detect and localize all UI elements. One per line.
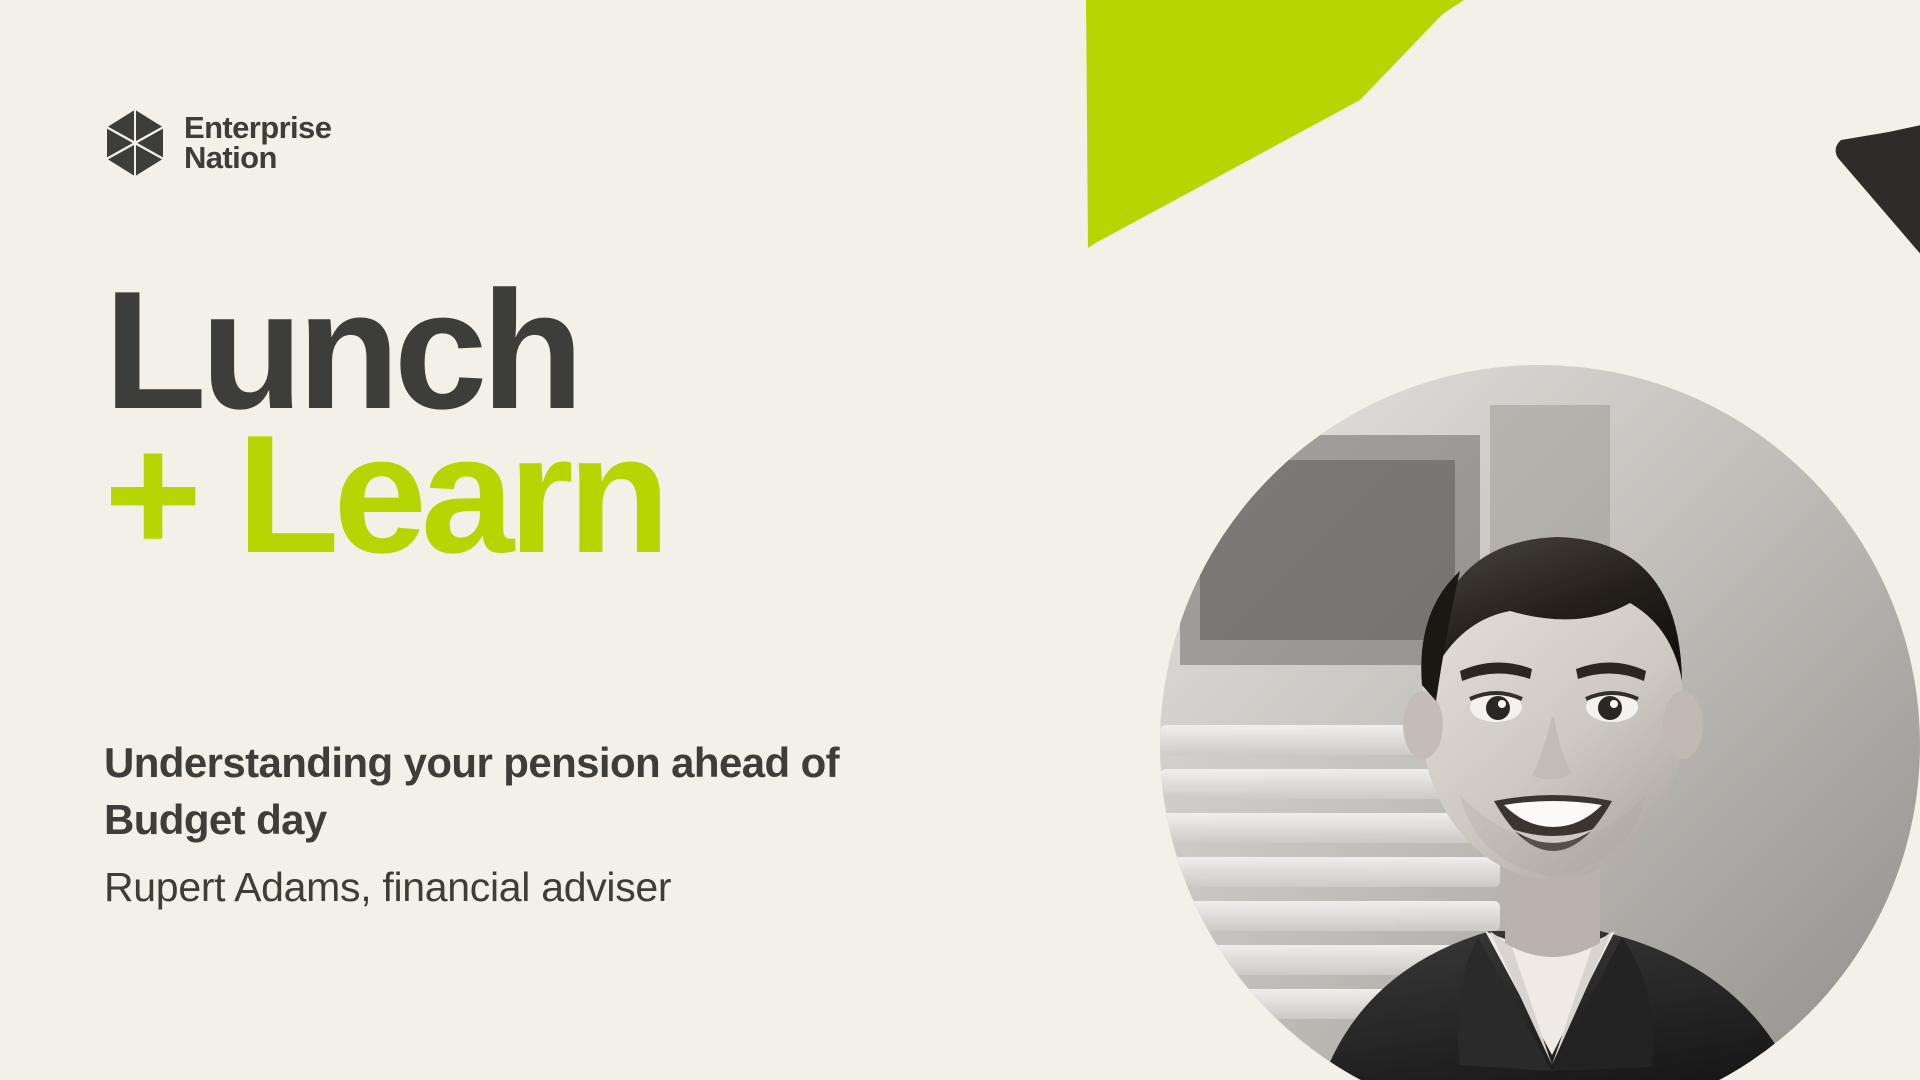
dark-rounded-corner-shape-fill <box>1843 110 1920 300</box>
green-triangle-shape <box>1086 0 1460 246</box>
brand-logo[interactable]: Enterprise Nation <box>104 108 331 178</box>
headline: Lunch + Learn <box>104 278 664 567</box>
speaker-portrait-photo <box>1160 365 1920 1080</box>
headline-line-learn: + Learn <box>104 422 664 566</box>
enterprise-nation-hexagon-icon <box>104 108 166 178</box>
session-title: Understanding your pension ahead of Budg… <box>104 735 984 848</box>
presenter-name: Rupert Adams, financial adviser <box>104 864 671 911</box>
brand-logo-text: Enterprise Nation <box>184 113 331 173</box>
green-triangle-shape-main <box>1086 0 1470 248</box>
dark-rounded-corner-shape <box>1836 120 1920 300</box>
portrait-illustration <box>1160 365 1920 1080</box>
